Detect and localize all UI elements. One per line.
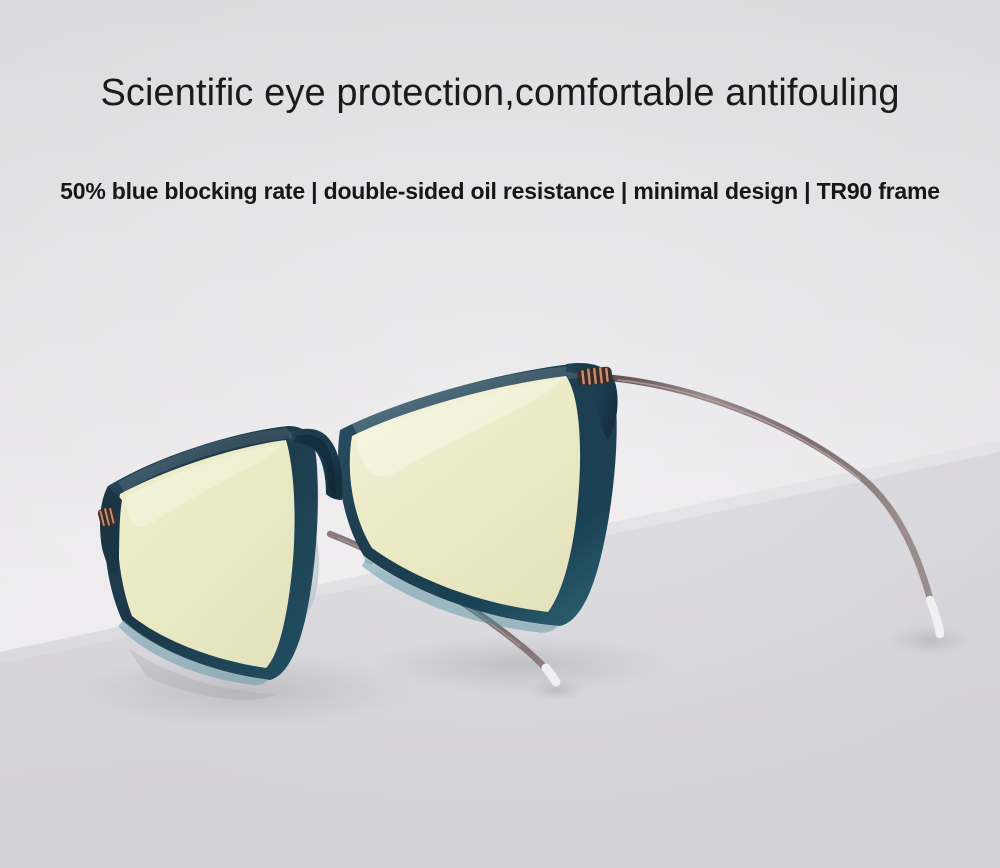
product-banner: Scientific eye protection,comfortable an…	[0, 0, 1000, 868]
left-end-piece	[100, 486, 122, 578]
product-image	[0, 0, 1000, 868]
shadow-temple-right	[888, 624, 972, 656]
right-temple-arm	[612, 378, 940, 634]
eyeglasses-illustration	[0, 0, 1000, 868]
